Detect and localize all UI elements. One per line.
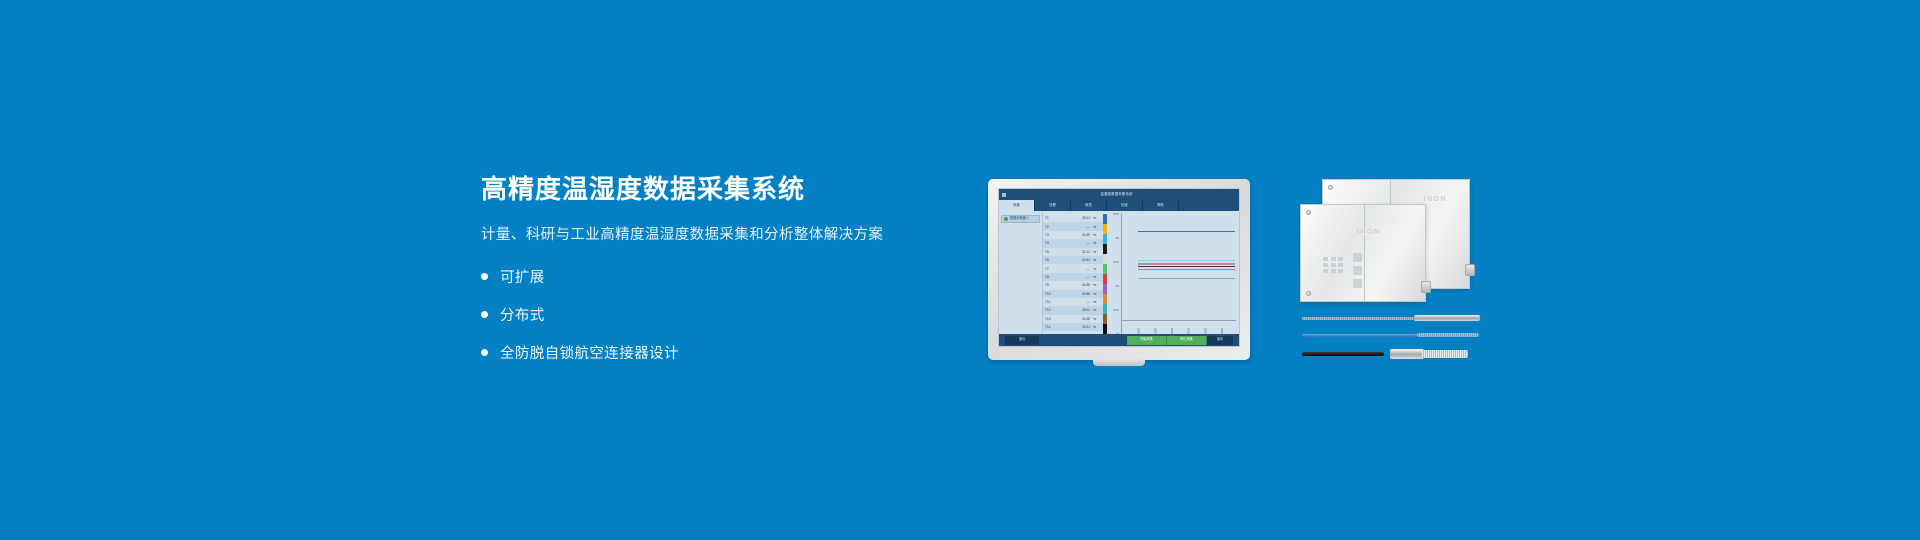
display-module-icon — [1353, 266, 1362, 275]
tree-item-logger[interactable]: 数据采集器-1 — [1001, 215, 1040, 223]
feature-label: 全防脱自锁航空连接器设计 — [500, 342, 679, 363]
app-title: 温湿度数据采集系统 — [1003, 193, 1230, 196]
monitor-stand — [1093, 359, 1145, 366]
copy-block: 高精度温湿度数据采集系统 计量、科研与工业高精度温湿度数据采集和分析整体解决方案… — [481, 175, 951, 380]
table-row[interactable]: T924.98℃ — [1043, 281, 1103, 289]
channel-name: T8 — [1045, 275, 1059, 279]
table-row[interactable]: T11----℃ — [1043, 298, 1103, 306]
monitor-screen: 温湿度数据采集系统 采集 设置 报表 校准 帮助 数据采集器-1 T125.01… — [998, 188, 1240, 347]
connector-port — [1421, 281, 1431, 293]
stop-acquisition-button[interactable]: 停止采集 — [1167, 336, 1207, 345]
screw-icon — [1306, 291, 1311, 296]
brand-label-back: INON — [1424, 196, 1448, 203]
channel-unit: ℃ — [1093, 317, 1101, 321]
table-row[interactable]: T324.99℃ — [1043, 231, 1103, 239]
channel-value: 24.88 — [1059, 292, 1093, 296]
axis-tick-label: 10:10 — [1153, 328, 1156, 334]
table-row[interactable]: T4----℃ — [1043, 239, 1103, 247]
axis-tick-label: 23.5 — [1113, 308, 1119, 312]
channel-unit: ℃ — [1093, 283, 1101, 287]
channel-value: ---- — [1059, 267, 1093, 271]
table-row[interactable]: T2----℃ — [1043, 222, 1103, 230]
list-item: 可扩展 — [481, 266, 951, 287]
channel-name: T6 — [1045, 258, 1059, 262]
list-item: 分布式 — [481, 304, 951, 325]
channel-name: T13 — [1045, 317, 1059, 321]
axis-tick-label: 10:00 — [1137, 328, 1140, 334]
bullet-dot-icon — [481, 273, 488, 280]
table-row[interactable]: T8----℃ — [1043, 273, 1103, 281]
channel-unit: ℃ — [1093, 216, 1101, 220]
channel-name: T2 — [1045, 225, 1059, 229]
channel-value: 24.99 — [1059, 233, 1093, 237]
channel-unit: ℃ — [1093, 275, 1101, 279]
table-row[interactable]: T7----℃ — [1043, 264, 1103, 272]
start-acquisition-button[interactable]: 开始采集 — [1127, 336, 1167, 345]
channel-name: T5 — [1045, 250, 1059, 254]
axis-tick-label: 25 — [1116, 236, 1119, 240]
channel-name: T14 — [1045, 325, 1059, 329]
save-button[interactable]: 保存 — [1207, 336, 1233, 345]
axis-tick-label: 10:50 — [1220, 328, 1223, 334]
channel-unit: ℃ — [1093, 325, 1101, 329]
app-body: 数据采集器-1 T125.01℃T2----℃T324.99℃T4----℃T5… — [999, 211, 1239, 334]
channel-value: 24.12 — [1059, 250, 1093, 254]
chart-plot-area — [1122, 214, 1236, 321]
channel-name: T10 — [1045, 292, 1059, 296]
table-row[interactable]: T1324.28℃ — [1043, 315, 1103, 323]
axis-tick-label: 25.5 — [1113, 212, 1119, 216]
channel-value: 24.81 — [1059, 258, 1093, 262]
page-subtitle: 计量、科研与工业高精度温湿度数据采集和分析整体解决方案 — [481, 223, 951, 244]
channel-value: ---- — [1059, 225, 1093, 229]
braided-probe-sensor — [1302, 314, 1488, 322]
channel-unit: ℃ — [1093, 225, 1101, 229]
channel-name: T7 — [1045, 267, 1059, 271]
table-row[interactable]: T1024.88℃ — [1043, 290, 1103, 298]
chart-x-axis: 10:0010:1010:2010:3010:4010:50 — [1120, 321, 1239, 334]
channel-value: 24.11 — [1059, 325, 1093, 329]
channel-value: ---- — [1059, 241, 1093, 245]
footer-spacer — [1039, 334, 1127, 346]
tab-acquire[interactable]: 采集 — [999, 200, 1035, 211]
channel-name: T9 — [1045, 283, 1059, 287]
feature-list: 可扩展 分布式 全防脱自锁航空连接器设计 — [481, 266, 951, 363]
keypad-icon — [1323, 257, 1343, 273]
axis-tick-label: 24.5 — [1113, 260, 1119, 264]
channel-name: T12 — [1045, 308, 1059, 312]
tree-item-label: 数据采集器-1 — [1010, 217, 1029, 220]
axis-tick-label: 10:40 — [1203, 328, 1206, 334]
channel-unit: ℃ — [1093, 233, 1101, 237]
blue-cable-sensor — [1302, 332, 1488, 339]
table-row[interactable]: T1225.02℃ — [1043, 306, 1103, 314]
table-row[interactable]: T1424.11℃ — [1043, 323, 1103, 331]
exit-button[interactable]: 退出 — [1005, 336, 1039, 345]
chart-trace-T3 — [1138, 260, 1235, 261]
channel-unit: ℃ — [1093, 241, 1101, 245]
axis-tick-label: 10:30 — [1187, 328, 1190, 334]
channel-name: T11 — [1045, 300, 1059, 304]
channel-value: 24.28 — [1059, 317, 1093, 321]
connector-port — [1465, 264, 1475, 276]
channel-table: T125.01℃T2----℃T324.99℃T4----℃T524.12℃T6… — [1043, 211, 1103, 334]
chart-trace-T6 — [1138, 264, 1235, 265]
tab-calibration[interactable]: 校准 — [1107, 200, 1143, 211]
feature-label: 可扩展 — [500, 266, 545, 287]
axis-tick-label: 24 — [1116, 284, 1119, 288]
app-tab-bar: 采集 设置 报表 校准 帮助 — [999, 200, 1239, 211]
table-row[interactable]: T125.01℃ — [1043, 214, 1103, 222]
channel-value: 25.01 — [1059, 216, 1093, 220]
channel-name: T4 — [1045, 241, 1059, 245]
screw-icon — [1306, 210, 1311, 215]
chart-y-axis: 25.52524.52423.523 — [1109, 214, 1122, 334]
app-footer: 退出 开始采集 停止采集 保存 — [999, 334, 1239, 346]
list-item: 全防脱自锁航空连接器设计 — [481, 342, 951, 363]
bullet-dot-icon — [481, 349, 488, 356]
trend-chart: 25.52524.52423.523 10:0010:1010:2010:301… — [1107, 211, 1239, 334]
promo-banner: 高精度温湿度数据采集系统 计量、科研与工业高精度温湿度数据采集和分析整体解决方案… — [0, 0, 1920, 540]
axis-tick-label: 23 — [1116, 332, 1119, 336]
channel-unit: ℃ — [1093, 258, 1101, 262]
channel-name: T3 — [1045, 233, 1059, 237]
chart-trace-T1 — [1138, 231, 1235, 232]
channel-name: T1 — [1045, 216, 1059, 220]
page-title: 高精度温湿度数据采集系统 — [481, 175, 951, 205]
channel-unit: ℃ — [1093, 267, 1101, 271]
chart-trace-T12 — [1138, 269, 1235, 270]
hardware-group: INON INON — [1300, 176, 1490, 366]
aviation-connector-sensor — [1302, 348, 1488, 360]
tab-help[interactable]: 帮助 — [1143, 200, 1179, 211]
status-dot-icon — [1004, 217, 1008, 221]
channel-value: ---- — [1059, 275, 1093, 279]
brand-label-front: INON — [1357, 229, 1381, 236]
chart-trace-T9 — [1138, 266, 1235, 267]
screw-icon — [1328, 185, 1333, 190]
channel-value: 25.02 — [1059, 308, 1093, 312]
channel-value: 24.98 — [1059, 283, 1093, 287]
tab-report[interactable]: 报表 — [1071, 200, 1107, 211]
data-logger-front: INON — [1300, 204, 1426, 302]
display-module-icon — [1353, 279, 1362, 288]
chart-trace-T16 — [1138, 278, 1235, 279]
app-titlebar: 温湿度数据采集系统 — [999, 189, 1239, 200]
table-row[interactable]: T624.81℃ — [1043, 256, 1103, 264]
bullet-dot-icon — [481, 311, 488, 318]
tab-settings[interactable]: 设置 — [1035, 200, 1071, 211]
channel-unit: ℃ — [1093, 308, 1101, 312]
device-tree-panel: 数据采集器-1 — [999, 211, 1043, 334]
table-row[interactable]: T524.12℃ — [1043, 248, 1103, 256]
axis-tick-label: 10:20 — [1170, 328, 1173, 334]
display-module-icon — [1353, 253, 1362, 262]
channel-unit: ℃ — [1093, 300, 1101, 304]
channel-value: ---- — [1059, 300, 1093, 304]
channel-unit: ℃ — [1093, 292, 1101, 296]
feature-label: 分布式 — [500, 304, 545, 325]
channel-unit: ℃ — [1093, 250, 1101, 254]
monitor-device: 温湿度数据采集系统 采集 设置 报表 校准 帮助 数据采集器-1 T125.01… — [988, 179, 1250, 360]
